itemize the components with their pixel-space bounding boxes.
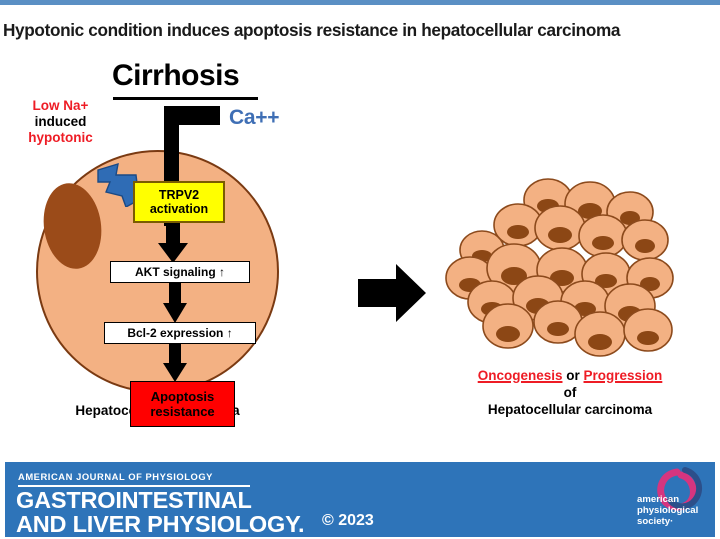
hypotonic-text: hypotonic bbox=[28, 130, 93, 145]
bcl2-expression-box: Bcl-2 expression ↑ bbox=[104, 322, 256, 344]
journal-name: GASTROINTESTINAL AND LIVER PHYSIOLOGY. bbox=[16, 488, 304, 536]
figure-title: Hypotonic condition induces apoptosis re… bbox=[3, 21, 719, 40]
apoptosis-resistance-box: Apoptosis resistance bbox=[130, 381, 235, 427]
journal-footer-banner: AMERICAN JOURNAL OF PHYSIOLOGY GASTROINT… bbox=[5, 462, 715, 537]
outcome-caption: Oncogenesis or Progression of Hepatocell… bbox=[420, 367, 720, 418]
pathway-arrow-2-icon bbox=[163, 281, 187, 323]
oncogenesis-term: Oncogenesis bbox=[478, 368, 563, 383]
calcium-channel-arm-icon bbox=[164, 106, 220, 125]
journal-name-line1: GASTROINTESTINAL bbox=[16, 487, 252, 513]
copyright-notice: © 2023 bbox=[322, 512, 374, 530]
top-accent-bar bbox=[0, 0, 720, 5]
apoptosis-label-line2: resistance bbox=[150, 404, 214, 419]
induced-text: induced bbox=[35, 114, 87, 129]
low-sodium-text: Low Na+ bbox=[33, 98, 89, 113]
aps-society-text: american physiological society· bbox=[637, 494, 698, 527]
aps-line2: physiological bbox=[637, 505, 698, 516]
calcium-ion-label: Ca++ bbox=[229, 106, 279, 130]
tumor-cell-cluster bbox=[440, 170, 690, 360]
trpv2-label-line2: activation bbox=[150, 202, 208, 216]
cirrhosis-heading: Cirrhosis bbox=[112, 59, 239, 93]
aps-line1: american bbox=[637, 494, 679, 505]
apoptosis-label-line1: Apoptosis bbox=[151, 389, 215, 404]
outcome-conjunction: or bbox=[566, 368, 580, 383]
progression-term: Progression bbox=[584, 368, 663, 383]
aps-line3: society· bbox=[637, 516, 673, 527]
pathway-arrow-1-icon bbox=[158, 223, 188, 263]
outcome-subject: Hepatocellular carcinoma bbox=[488, 402, 652, 417]
hypotonic-stimulus-label: Low Na+ induced hypotonic bbox=[13, 98, 108, 146]
akt-signaling-box: AKT signaling ↑ bbox=[110, 261, 250, 283]
outcome-preposition: of bbox=[564, 385, 577, 400]
journal-name-line2: AND LIVER PHYSIOLOGY. bbox=[16, 511, 304, 537]
cirrhosis-heading-underline bbox=[113, 97, 258, 100]
trpv2-activation-box: TRPV2 activation bbox=[133, 181, 225, 223]
figure-canvas: Cirrhosis Low Na+ induced hypotonic Ca++… bbox=[0, 45, 720, 460]
journal-kicker: AMERICAN JOURNAL OF PHYSIOLOGY bbox=[18, 471, 213, 482]
progression-arrow-icon bbox=[358, 262, 426, 324]
trpv2-label-line1: TRPV2 bbox=[159, 188, 199, 202]
pathway-arrow-3-icon bbox=[163, 342, 187, 382]
